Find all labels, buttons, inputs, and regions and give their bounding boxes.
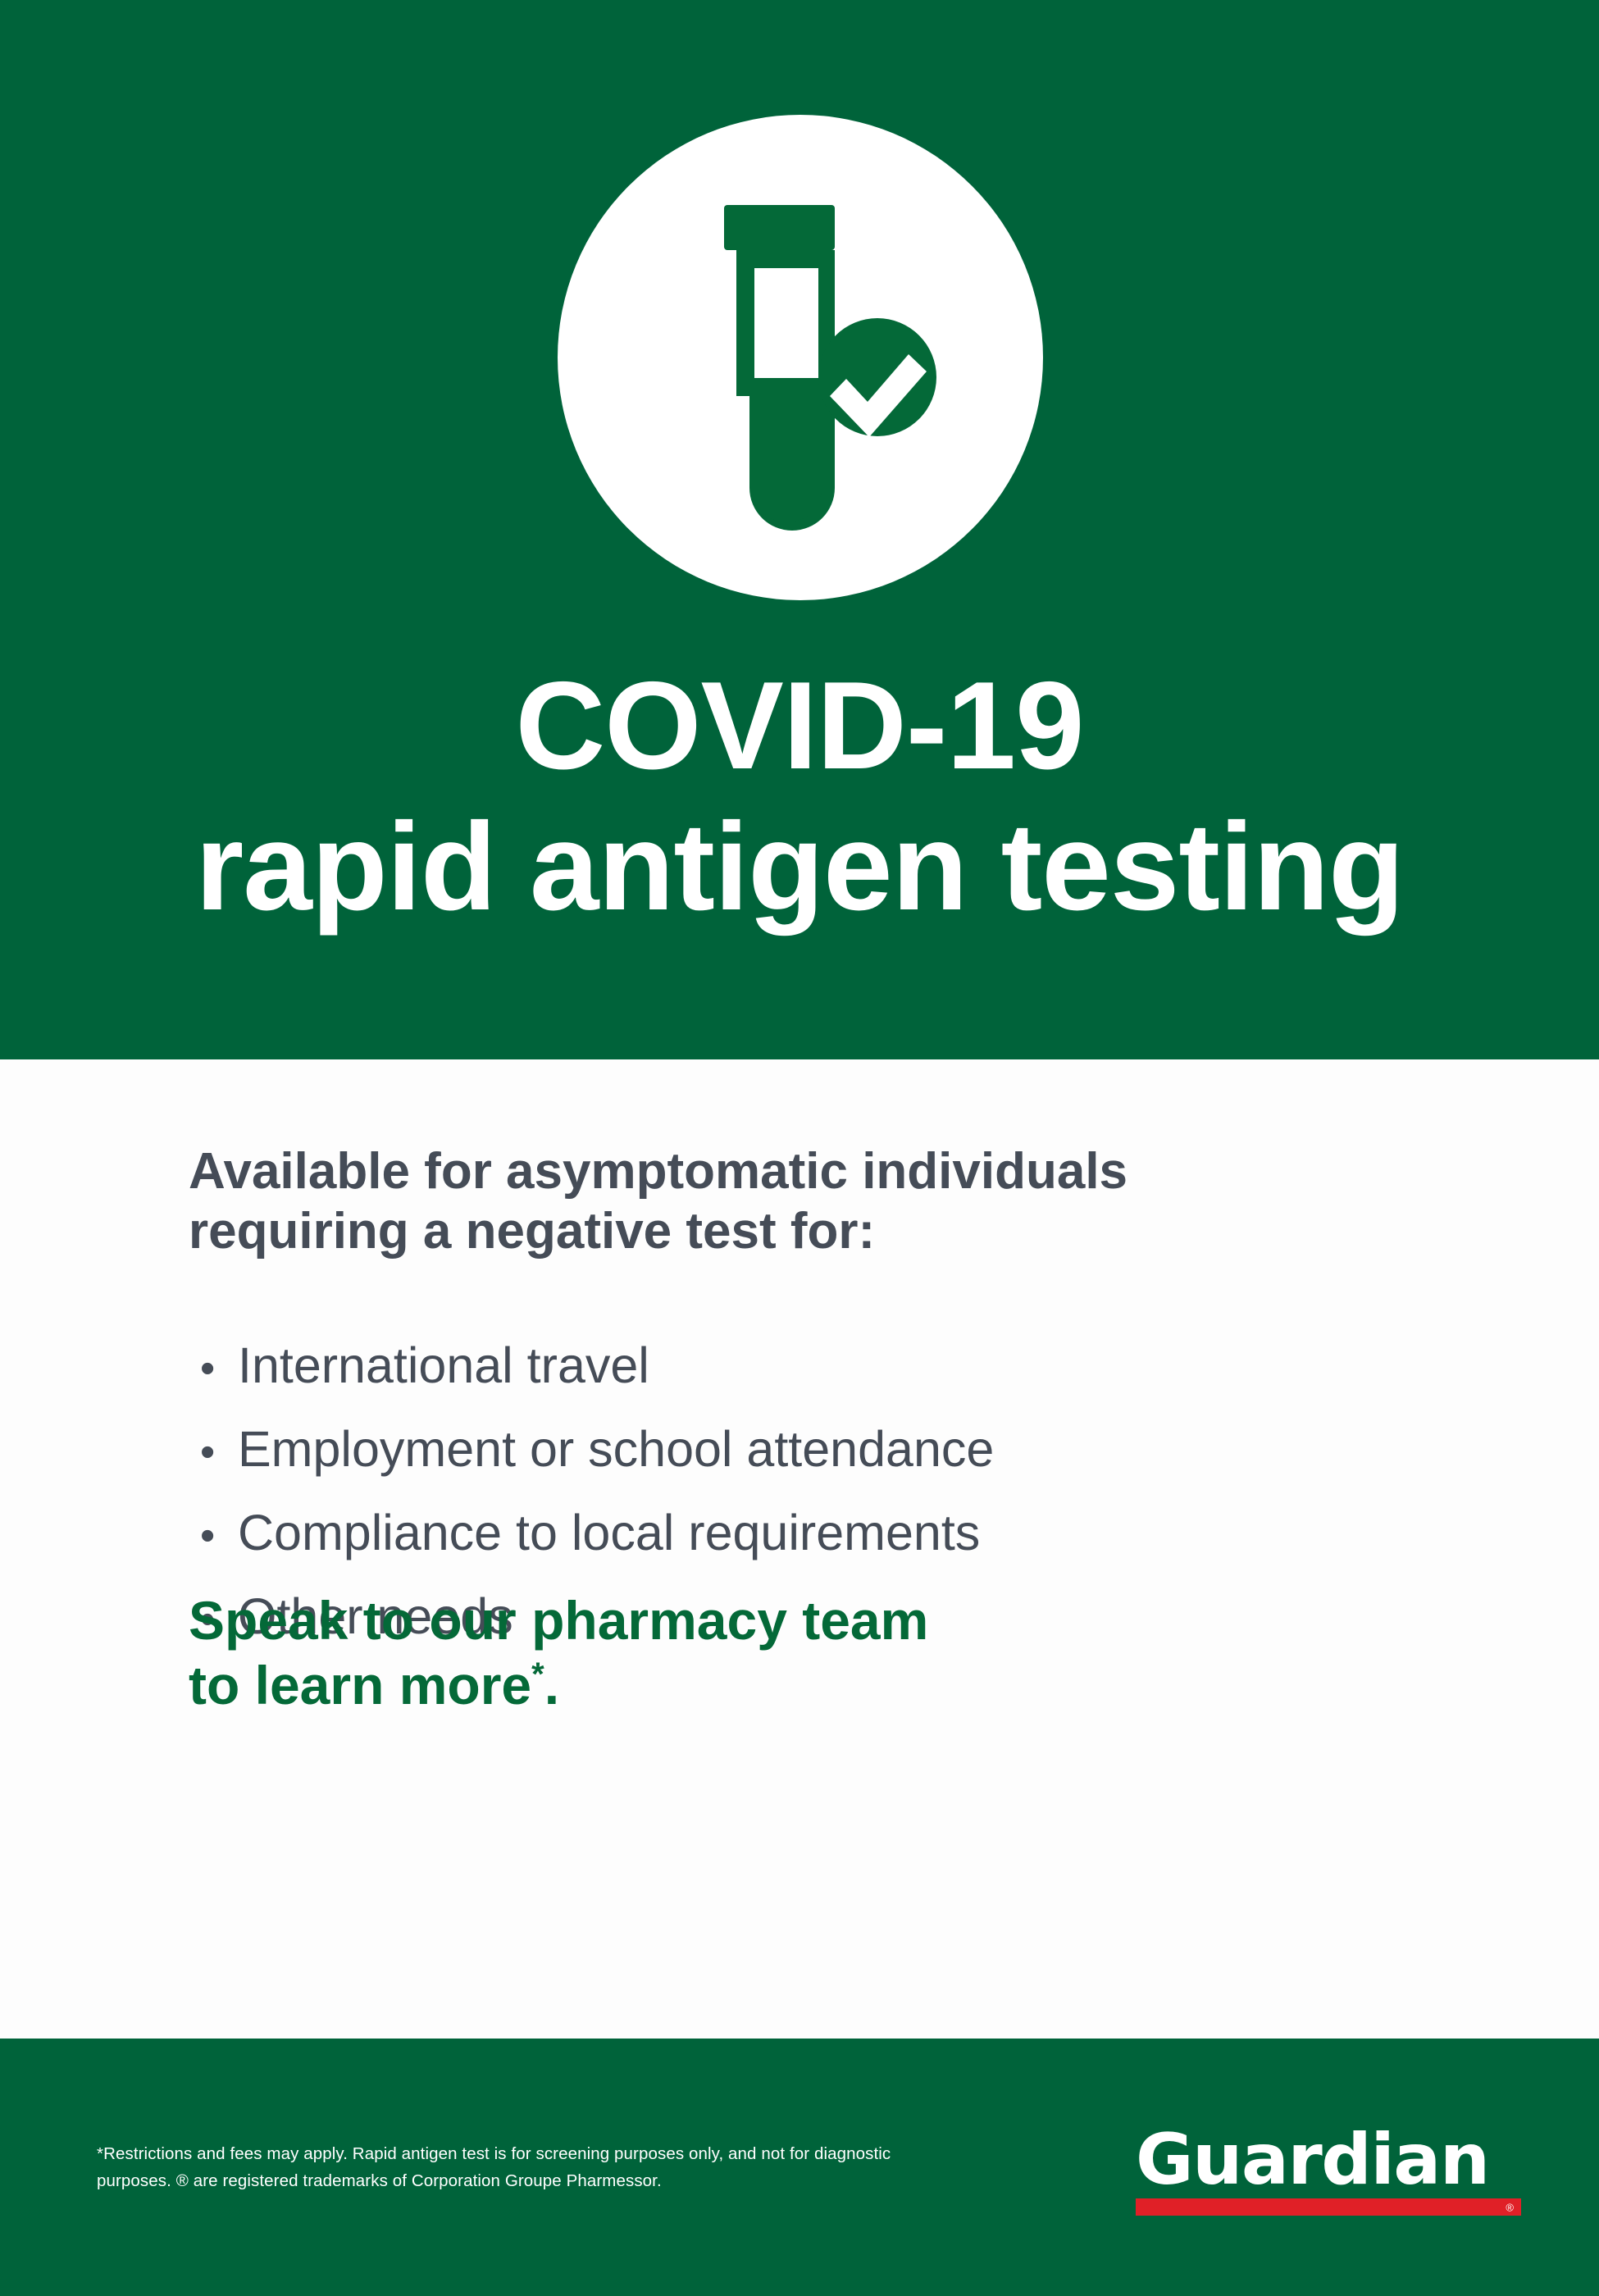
brand-underline-bar: ® [1136, 2198, 1521, 2216]
title-line-1: COVID-19 [0, 656, 1599, 797]
lede-line-2: requiring a negative test for: [189, 1201, 1468, 1261]
list-item-label: Compliance to local requirements [238, 1506, 1501, 1559]
bullet-dot-icon: • [189, 1347, 238, 1390]
list-item: • Compliance to local requirements [189, 1506, 1501, 1559]
list-item: • Employment or school attendance [189, 1423, 1501, 1475]
call-to-action: Speak to our pharmacy team to learn more… [189, 1588, 1419, 1718]
lede-line-1: Available for asymptomatic individuals [189, 1141, 1468, 1201]
lede-heading: Available for asymptomatic individuals r… [189, 1141, 1468, 1261]
header-band: COVID-19 rapid antigen testing [0, 0, 1599, 1059]
list-item-label: Employment or school attendance [238, 1423, 1501, 1475]
brand-wordmark: Guardian [1136, 2125, 1521, 2194]
cta-asterisk: * [531, 1656, 544, 1692]
guardian-logo: Guardian ® [1136, 2125, 1521, 2216]
registered-trademark-icon: ® [1506, 2202, 1514, 2212]
page-title: COVID-19 rapid antigen testing [0, 656, 1599, 938]
bullet-dot-icon: • [189, 1431, 238, 1474]
test-tube-check-icon [558, 115, 1043, 600]
cta-line-2-wrap: to learn more*. [189, 1653, 1419, 1718]
list-item-label: International travel [238, 1339, 1501, 1392]
title-line-2: rapid antigen testing [0, 797, 1599, 938]
cta-line-1: Speak to our pharmacy team [189, 1588, 1419, 1653]
main-content: Available for asymptomatic individuals r… [0, 1059, 1599, 2039]
test-tube-check-glyph [558, 115, 1043, 600]
covid-testing-poster: COVID-19 rapid antigen testing Available… [0, 0, 1599, 2296]
footer-band: *Restrictions and fees may apply. Rapid … [0, 2039, 1599, 2296]
legal-disclaimer: *Restrictions and fees may apply. Rapid … [97, 2140, 941, 2194]
cta-line-2: to learn more [189, 1655, 531, 1715]
cta-period: . [544, 1655, 559, 1715]
bullet-dot-icon: • [189, 1515, 238, 1557]
list-item: • International travel [189, 1339, 1501, 1392]
